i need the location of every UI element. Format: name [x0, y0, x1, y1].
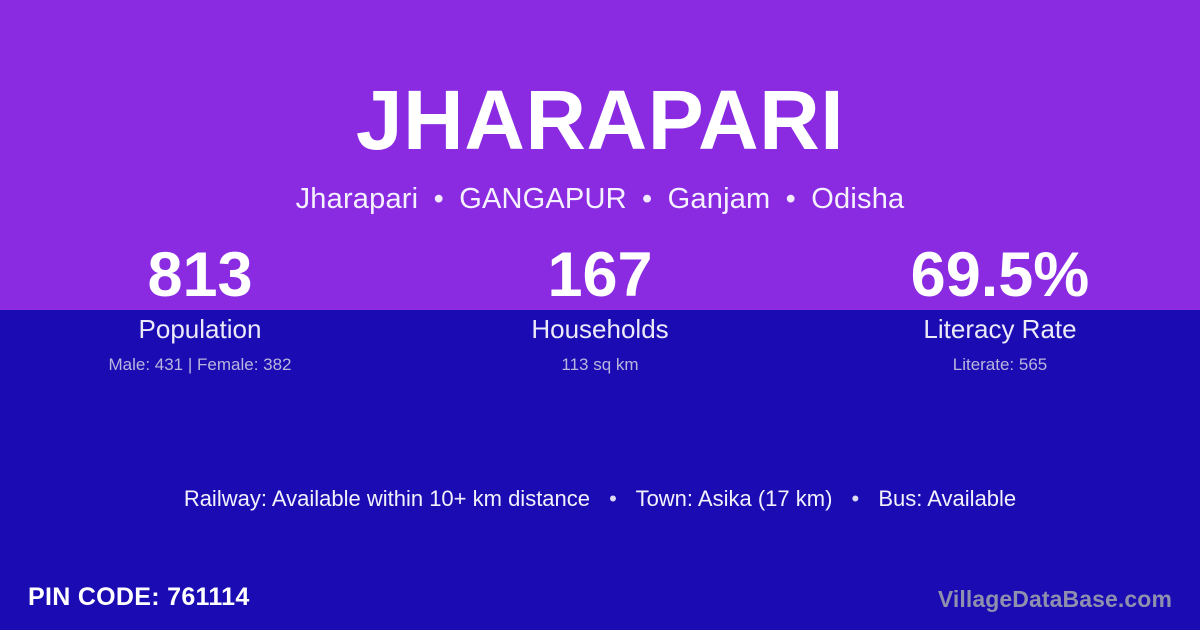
stat-households: 167 Households 113 sq km — [400, 240, 800, 375]
stats-row: 813 Population Male: 431 | Female: 382 1… — [0, 240, 1200, 375]
info-town: Town: Asika (17 km) — [636, 486, 833, 511]
info-railway: Railway: Available within 10+ km distanc… — [184, 486, 590, 511]
breadcrumb-village: Jharapari — [296, 183, 419, 215]
breadcrumb-block: GANGAPUR — [459, 183, 627, 215]
stat-label-literacy-rate: Literacy Rate — [800, 314, 1200, 344]
breadcrumb: Jharapari • GANGAPUR • Ganjam • Odisha — [0, 162, 1200, 216]
stat-sub-population: Male: 431 | Female: 382 — [0, 355, 400, 375]
stat-sub-literacy-rate: Literate: 565 — [800, 355, 1200, 375]
breadcrumb-separator-3: • — [779, 183, 803, 215]
stat-population: 813 Population Male: 431 | Female: 382 — [0, 240, 400, 375]
breadcrumb-separator-2: • — [635, 183, 659, 215]
card-footer: PIN CODE: 761114 VillageDataBase.com — [0, 560, 1200, 630]
breadcrumb-district: Ganjam — [668, 183, 771, 215]
stat-label-households: Households — [400, 314, 800, 344]
stat-value-population: 813 — [0, 240, 400, 310]
transport-info-line: Railway: Available within 10+ km distanc… — [0, 484, 1200, 514]
stat-value-households: 167 — [400, 240, 800, 310]
pin-code: PIN CODE: 761114 — [28, 582, 250, 612]
info-separator-1: • — [596, 486, 630, 511]
site-brand: VillageDataBase.com — [938, 584, 1172, 614]
card-header: JHARAPARI Jharapari • GANGAPUR • Ganjam … — [0, 0, 1200, 216]
stat-literacy-rate: 69.5% Literacy Rate Literate: 565 — [800, 240, 1200, 375]
breadcrumb-separator-1: • — [427, 183, 451, 215]
breadcrumb-state: Odisha — [811, 183, 904, 215]
stat-sub-households: 113 sq km — [400, 355, 800, 375]
info-bus: Bus: Available — [878, 486, 1016, 511]
page-title: JHARAPARI — [0, 0, 1200, 162]
stat-label-population: Population — [0, 314, 400, 344]
stat-value-literacy-rate: 69.5% — [800, 240, 1200, 310]
info-separator-2: • — [839, 486, 873, 511]
village-info-card: JHARAPARI Jharapari • GANGAPUR • Ganjam … — [0, 0, 1200, 630]
